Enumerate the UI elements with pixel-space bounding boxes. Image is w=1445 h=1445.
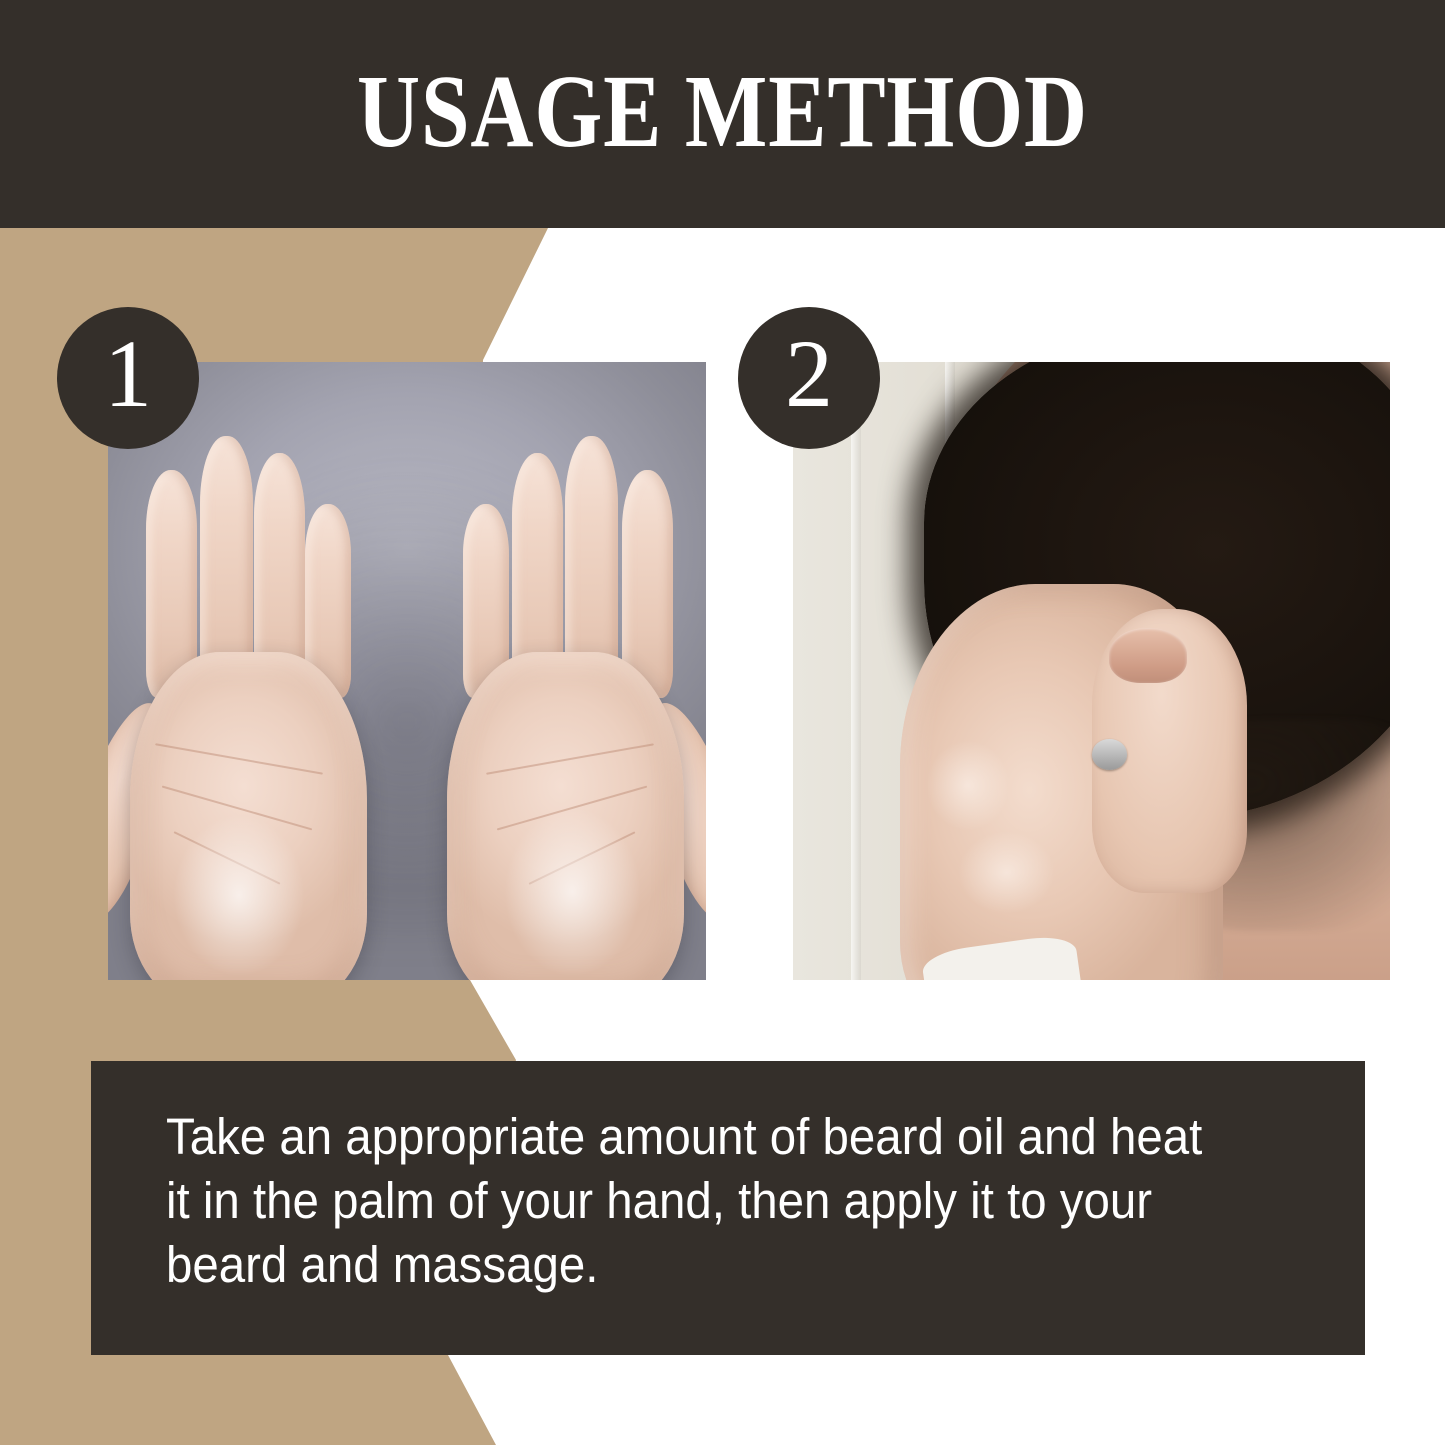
palm-surface	[130, 652, 367, 980]
palm-crease	[497, 786, 648, 831]
oil-shine	[926, 740, 1010, 831]
step-2-number: 2	[785, 326, 833, 422]
right-palm	[431, 436, 700, 980]
palm-crease	[174, 831, 281, 885]
palm-crease	[528, 831, 635, 885]
thumb-nail	[1109, 628, 1187, 684]
page-title: USAGE METHOD	[116, 52, 1330, 172]
step-2-image	[793, 362, 1390, 980]
palm-oil-sheen	[173, 814, 306, 976]
infographic-canvas: USAGE METHOD	[0, 0, 1445, 1445]
caption-box: Take an appropriate amount of beard oil …	[91, 1061, 1365, 1355]
palm-oil-sheen	[504, 807, 641, 976]
knuckle-highlight	[958, 831, 1055, 913]
step-2-badge: 2	[738, 307, 880, 449]
step-1-badge: 1	[57, 307, 199, 449]
wall-panel-line	[851, 362, 861, 980]
step-1-image	[108, 362, 706, 980]
header-bar: USAGE METHOD	[0, 0, 1445, 228]
palm-crease	[161, 786, 312, 831]
palm-crease	[486, 743, 654, 775]
step-1-number: 1	[104, 326, 152, 422]
caption-text: Take an appropriate amount of beard oil …	[166, 1105, 1226, 1297]
palm-surface	[447, 652, 684, 980]
finger-ring-jewelry	[1092, 739, 1128, 770]
palm-crease	[155, 743, 323, 775]
left-palm	[114, 436, 383, 980]
